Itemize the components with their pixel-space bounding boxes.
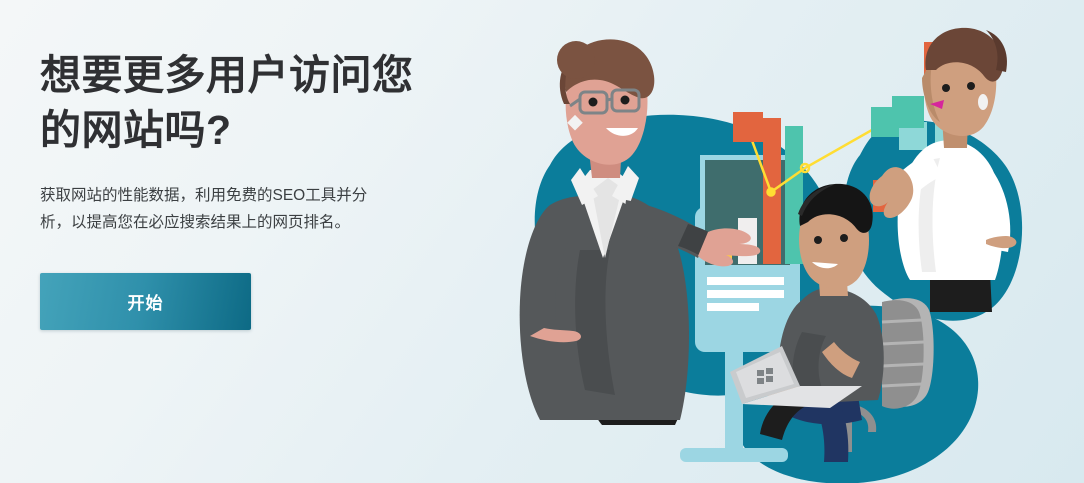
tile-orange-top xyxy=(733,112,763,142)
get-started-button[interactable]: 开始 xyxy=(40,273,251,330)
page-title: 想要更多用户访问您 的网站吗? xyxy=(40,48,470,157)
text-line-3 xyxy=(707,303,759,311)
text-line-1 xyxy=(707,277,784,285)
text-line-2 xyxy=(707,290,784,298)
tile-green-mid xyxy=(892,96,924,128)
hero-banner: 想要更多用户访问您 的网站吗? 获取网站的性能数据，利用免费的SEO工具并分 析… xyxy=(0,0,1084,483)
hero-subtitle: 获取网站的性能数据，利用免费的SEO工具并分 析，以提高您在必应搜索结果上的网页… xyxy=(40,183,432,236)
seo-team-illustration xyxy=(430,0,1084,483)
hero-copy-block: 想要更多用户访问您 的网站吗? 获取网站的性能数据，利用免费的SEO工具并分 析… xyxy=(40,48,470,330)
